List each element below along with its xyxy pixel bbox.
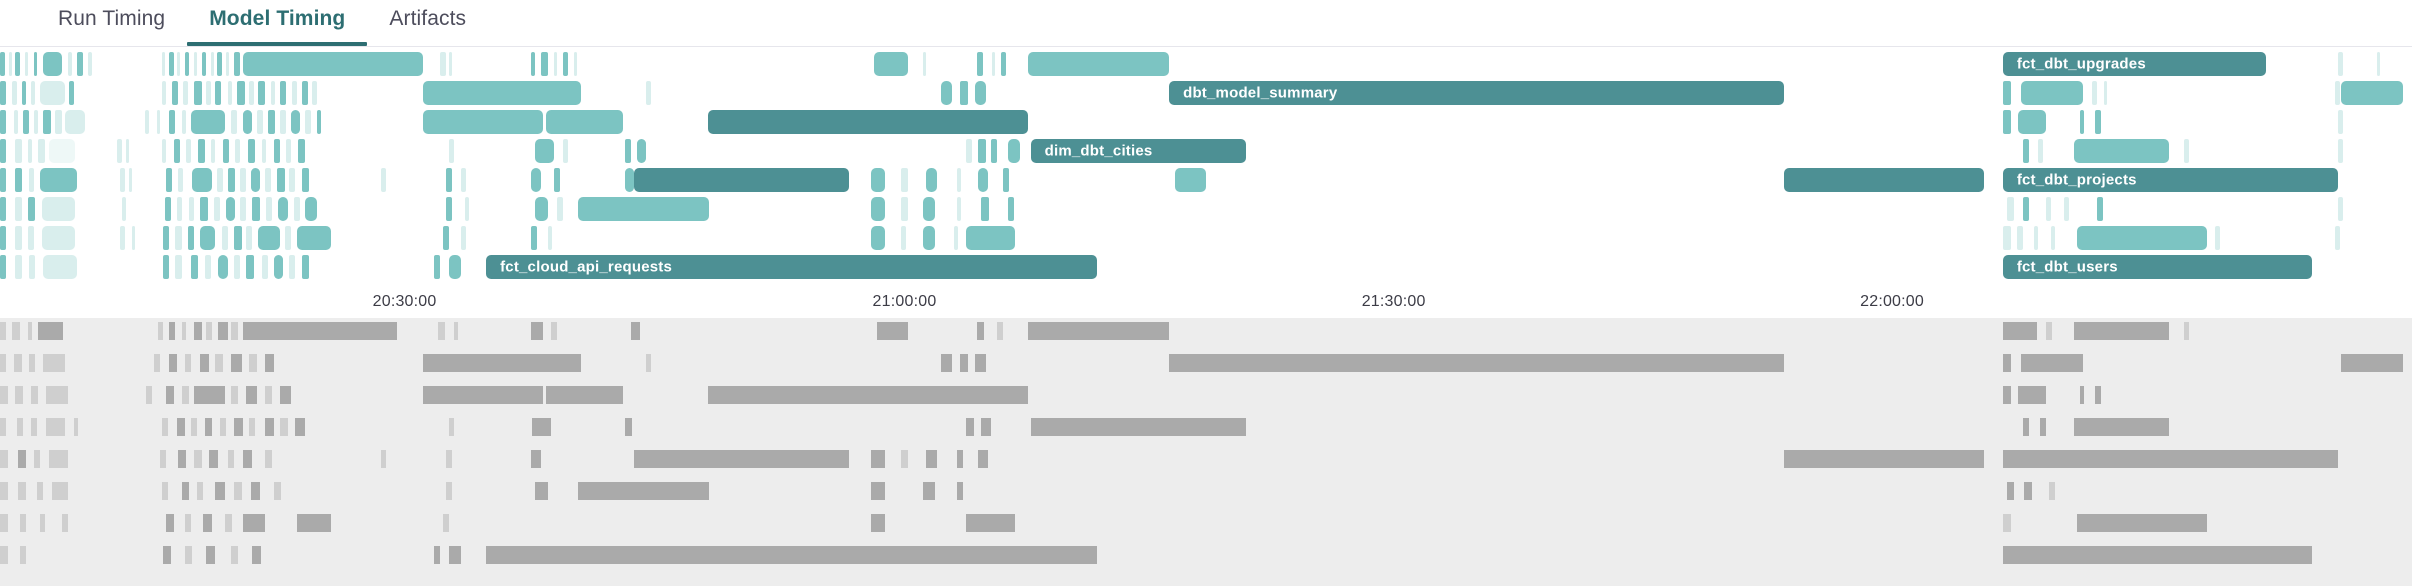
- brush-bar[interactable]: [280, 418, 288, 436]
- gantt-bar[interactable]: [563, 139, 568, 163]
- brush-bar[interactable]: [185, 514, 191, 532]
- brush-bar[interactable]: [0, 546, 8, 564]
- gantt-bar[interactable]: [708, 110, 1028, 134]
- gantt-bar[interactable]: [189, 197, 194, 221]
- brush-bar[interactable]: [231, 386, 239, 404]
- brush-bar[interactable]: [177, 418, 185, 436]
- gantt-bar[interactable]: [0, 139, 6, 163]
- brush-bar[interactable]: [243, 514, 265, 532]
- gantt-bar[interactable]: [1008, 197, 1014, 221]
- gantt-bar[interactable]: [531, 52, 536, 76]
- gantt-bar[interactable]: [15, 139, 21, 163]
- gantt-bar[interactable]: [265, 168, 271, 192]
- gantt-bar[interactable]: [954, 226, 959, 250]
- brush-bar[interactable]: [43, 354, 65, 372]
- gantt-bar[interactable]: [194, 52, 197, 76]
- brush-bar[interactable]: [2049, 482, 2055, 500]
- gantt-bar[interactable]: [183, 81, 188, 105]
- brush-bar[interactable]: [2003, 322, 2037, 340]
- gantt-bar[interactable]: [214, 197, 220, 221]
- brush-bar[interactable]: [438, 322, 444, 340]
- brush-bar[interactable]: [625, 418, 633, 436]
- gantt-bar[interactable]: [243, 52, 423, 76]
- gantt-bar[interactable]: [145, 110, 150, 134]
- gantt-bar[interactable]: [981, 197, 989, 221]
- gantt-bar[interactable]: [2092, 81, 2097, 105]
- gantt-bar[interactable]: [0, 81, 6, 105]
- gantt-bar[interactable]: [49, 139, 75, 163]
- brush-bar[interactable]: [997, 322, 1003, 340]
- gantt-bar[interactable]: [2007, 197, 2013, 221]
- brush-bar[interactable]: [162, 482, 168, 500]
- gantt-bar[interactable]: [2003, 226, 2011, 250]
- gantt-bar[interactable]: [188, 226, 194, 250]
- gantt-bar[interactable]: [871, 226, 885, 250]
- gantt-bar[interactable]: [172, 81, 178, 105]
- gantt-bar[interactable]: [182, 110, 187, 134]
- gantt-bar[interactable]: [43, 52, 61, 76]
- brush-bar[interactable]: [160, 450, 166, 468]
- gantt-bar[interactable]: [0, 226, 6, 250]
- brush-bar[interactable]: [20, 546, 26, 564]
- gantt-bar[interactable]: [2038, 139, 2043, 163]
- gantt-bar[interactable]: [578, 197, 709, 221]
- brush-bar[interactable]: [941, 354, 952, 372]
- gantt-bar[interactable]: [574, 52, 577, 76]
- gantt-bar[interactable]: [77, 52, 83, 76]
- gantt-bar[interactable]: [289, 255, 295, 279]
- gantt-bar[interactable]: [302, 168, 310, 192]
- gantt-bar[interactable]: [218, 255, 227, 279]
- gantt-bar[interactable]: [634, 168, 849, 192]
- brush-bar[interactable]: [449, 546, 461, 564]
- brush-bar[interactable]: [163, 546, 171, 564]
- brush-bar[interactable]: [18, 482, 26, 500]
- brush-bar[interactable]: [220, 418, 226, 436]
- gantt-bar[interactable]: [2335, 226, 2340, 250]
- brush-bar[interactable]: [29, 354, 35, 372]
- brush-bar[interactable]: [191, 418, 197, 436]
- tab-model-timing[interactable]: Model Timing: [187, 0, 367, 44]
- gantt-bar[interactable]: [122, 197, 127, 221]
- gantt-bar[interactable]: [278, 197, 287, 221]
- brush-bar[interactable]: [265, 418, 274, 436]
- brush-bar[interactable]: [532, 418, 550, 436]
- brush-bar[interactable]: [578, 482, 709, 500]
- gantt-bar[interactable]: [2077, 226, 2208, 250]
- gantt-bar[interactable]: [2215, 226, 2220, 250]
- brush-bar[interactable]: [46, 418, 64, 436]
- brush-bar[interactable]: [2003, 514, 2011, 532]
- gantt-bar[interactable]: [302, 81, 308, 105]
- gantt-bar[interactable]: [12, 81, 17, 105]
- brush-bar[interactable]: [280, 386, 291, 404]
- brush-bar[interactable]: [423, 386, 543, 404]
- brush-bar[interactable]: [231, 322, 239, 340]
- brush-bar[interactable]: [2018, 386, 2046, 404]
- gantt-bar[interactable]: [29, 168, 34, 192]
- gantt-bar[interactable]: [2003, 81, 2011, 105]
- gantt-bar[interactable]: [423, 110, 543, 134]
- gantt-bar[interactable]: [23, 110, 29, 134]
- gantt-bar[interactable]: [191, 255, 199, 279]
- gantt-bar[interactable]: [2335, 81, 2340, 105]
- gantt-bar[interactable]: [2338, 110, 2343, 134]
- gantt-bar[interactable]: [120, 168, 125, 192]
- gantt-bar[interactable]: [55, 110, 61, 134]
- gantt-bar[interactable]: [531, 226, 537, 250]
- brush-bar[interactable]: [926, 450, 937, 468]
- gantt-bar-labeled[interactable]: fct_dbt_users: [2003, 255, 2312, 279]
- gantt-bar[interactable]: [1008, 139, 1020, 163]
- gantt-bar[interactable]: [548, 226, 553, 250]
- gantt-bar[interactable]: [531, 168, 542, 192]
- brush-bar[interactable]: [0, 482, 8, 500]
- gantt-bar[interactable]: [2064, 197, 2069, 221]
- gantt-bar[interactable]: [297, 226, 331, 250]
- gantt-bar[interactable]: [2377, 52, 2380, 76]
- brush-bar[interactable]: [203, 514, 212, 532]
- brush-bar[interactable]: [2021, 354, 2083, 372]
- gantt-bar[interactable]: [2080, 110, 2085, 134]
- gantt-bar[interactable]: [554, 52, 557, 76]
- brush-bar[interactable]: [243, 322, 397, 340]
- gantt-bar[interactable]: [186, 139, 191, 163]
- brush-bar[interactable]: [531, 450, 542, 468]
- brush-bar[interactable]: [2023, 418, 2029, 436]
- brush-bar[interactable]: [975, 354, 986, 372]
- gantt-bar[interactable]: [211, 52, 214, 76]
- brush-bar[interactable]: [2080, 386, 2085, 404]
- gantt-bar[interactable]: [285, 226, 291, 250]
- gantt-bar[interactable]: [901, 226, 906, 250]
- gantt-bar[interactable]: [42, 197, 76, 221]
- gantt-bar[interactable]: [28, 197, 36, 221]
- brush-bar[interactable]: [12, 322, 20, 340]
- brush-bar[interactable]: [381, 450, 386, 468]
- gantt-bar[interactable]: [174, 139, 180, 163]
- gantt-bar[interactable]: [226, 197, 235, 221]
- gantt-bar[interactable]: [234, 226, 242, 250]
- gantt-bar[interactable]: [2338, 197, 2343, 221]
- gantt-bar[interactable]: [535, 197, 547, 221]
- brush-bar[interactable]: [15, 386, 23, 404]
- gantt-bar[interactable]: [15, 52, 20, 76]
- brush-bar[interactable]: [2003, 450, 2338, 468]
- gantt-bar[interactable]: [975, 81, 986, 105]
- gantt-bar[interactable]: [2095, 110, 2101, 134]
- gantt-bar[interactable]: [2034, 226, 2039, 250]
- gantt-bar[interactable]: [941, 81, 952, 105]
- gantt-bar[interactable]: [923, 197, 935, 221]
- brush-bar[interactable]: [966, 418, 974, 436]
- gantt-bar[interactable]: [246, 255, 254, 279]
- gantt-bar[interactable]: [251, 168, 260, 192]
- gantt-bar[interactable]: [637, 139, 646, 163]
- brush-bar[interactable]: [265, 386, 273, 404]
- gantt-bar[interactable]: [40, 81, 65, 105]
- timeline-brush-overview[interactable]: [0, 318, 2412, 586]
- gantt-bar[interactable]: [228, 168, 236, 192]
- gantt-bar[interactable]: [15, 168, 21, 192]
- gantt-bar[interactable]: [237, 81, 245, 105]
- gantt-bar[interactable]: [977, 52, 983, 76]
- gantt-bar[interactable]: [166, 168, 172, 192]
- gantt-bar[interactable]: [206, 81, 211, 105]
- brush-bar[interactable]: [0, 386, 8, 404]
- gantt-bar[interactable]: [446, 197, 452, 221]
- gantt-bar[interactable]: [65, 110, 85, 134]
- brush-bar[interactable]: [185, 354, 191, 372]
- gantt-bar[interactable]: [1028, 52, 1170, 76]
- gantt-bar[interactable]: [162, 52, 165, 76]
- gantt-bar[interactable]: [2097, 197, 2103, 221]
- gantt-bar[interactable]: [257, 110, 263, 134]
- brush-bar[interactable]: [2184, 322, 2189, 340]
- brush-bar[interactable]: [634, 450, 849, 468]
- gantt-bar[interactable]: [871, 197, 885, 221]
- brush-bar[interactable]: [158, 322, 163, 340]
- brush-bar[interactable]: [646, 354, 651, 372]
- gantt-bar[interactable]: [957, 168, 962, 192]
- gantt-bar[interactable]: [31, 81, 36, 105]
- brush-bar[interactable]: [631, 322, 640, 340]
- gantt-bar[interactable]: [28, 139, 33, 163]
- gantt-bar[interactable]: [15, 226, 21, 250]
- gantt-bar[interactable]: [177, 197, 182, 221]
- brush-bar[interactable]: [434, 546, 440, 564]
- brush-bar[interactable]: [225, 514, 233, 532]
- brush-bar[interactable]: [957, 482, 963, 500]
- gantt-bar[interactable]: [926, 168, 937, 192]
- gantt-bar[interactable]: [960, 81, 968, 105]
- brush-bar[interactable]: [871, 482, 885, 500]
- brush-bar[interactable]: [966, 514, 1015, 532]
- gantt-bar[interactable]: [381, 168, 386, 192]
- gantt-bar[interactable]: [274, 139, 280, 163]
- brush-bar[interactable]: [1784, 450, 1984, 468]
- brush-bar[interactable]: [2003, 546, 2312, 564]
- brush-bar[interactable]: [446, 450, 452, 468]
- gantt-bar[interactable]: [252, 197, 260, 221]
- gantt-bar[interactable]: [15, 255, 21, 279]
- tab-run-timing[interactable]: Run Timing: [36, 0, 187, 44]
- brush-bar[interactable]: [218, 322, 227, 340]
- brush-bar[interactable]: [2007, 482, 2013, 500]
- brush-bar[interactable]: [200, 354, 209, 372]
- brush-bar[interactable]: [252, 546, 261, 564]
- brush-bar[interactable]: [295, 418, 304, 436]
- gantt-bar[interactable]: [222, 226, 228, 250]
- gantt-bar[interactable]: [1003, 168, 1009, 192]
- gantt-bar[interactable]: [465, 197, 470, 221]
- brush-bar[interactable]: [169, 322, 175, 340]
- brush-bar[interactable]: [0, 354, 6, 372]
- gantt-bar[interactable]: [120, 226, 125, 250]
- gantt-bar[interactable]: [2018, 110, 2046, 134]
- brush-bar[interactable]: [265, 354, 274, 372]
- gantt-bar[interactable]: [129, 168, 132, 192]
- gantt-bar[interactable]: [271, 81, 276, 105]
- brush-bar[interactable]: [2074, 322, 2169, 340]
- gantt-bar[interactable]: [211, 139, 216, 163]
- gantt-bar[interactable]: [1001, 52, 1006, 76]
- brush-bar[interactable]: [454, 322, 459, 340]
- gantt-bar[interactable]: [15, 197, 21, 221]
- brush-bar[interactable]: [446, 482, 452, 500]
- brush-bar[interactable]: [34, 450, 40, 468]
- gantt-bar[interactable]: [280, 110, 286, 134]
- brush-bar[interactable]: [31, 386, 39, 404]
- brush-bar[interactable]: [14, 354, 22, 372]
- gantt-bar[interactable]: [0, 110, 6, 134]
- gantt-bar[interactable]: [2021, 81, 2083, 105]
- brush-bar[interactable]: [265, 450, 273, 468]
- brush-bar[interactable]: [166, 514, 174, 532]
- brush-bar[interactable]: [178, 450, 186, 468]
- gantt-bar[interactable]: [546, 110, 623, 134]
- gantt-bar[interactable]: [305, 110, 311, 134]
- brush-bar[interactable]: [215, 354, 223, 372]
- gantt-bar[interactable]: [461, 168, 466, 192]
- gantt-bar[interactable]: [268, 110, 276, 134]
- brush-bar[interactable]: [2074, 418, 2169, 436]
- brush-bar[interactable]: [194, 450, 202, 468]
- gantt-bar[interactable]: [423, 81, 581, 105]
- brush-bar[interactable]: [74, 418, 79, 436]
- brush-bar[interactable]: [215, 482, 224, 500]
- gantt-bar[interactable]: [200, 197, 208, 221]
- gantt-bar[interactable]: [246, 226, 252, 250]
- brush-bar[interactable]: [154, 354, 160, 372]
- brush-bar[interactable]: [18, 450, 26, 468]
- brush-bar[interactable]: [901, 450, 907, 468]
- gantt-bar[interactable]: [298, 139, 304, 163]
- gantt-bar[interactable]: [966, 139, 972, 163]
- gantt-bar[interactable]: [28, 226, 34, 250]
- gantt-bar[interactable]: [234, 255, 240, 279]
- gantt-bar[interactable]: [202, 52, 207, 76]
- brush-bar[interactable]: [1169, 354, 1784, 372]
- brush-bar[interactable]: [546, 386, 623, 404]
- gantt-bar[interactable]: [157, 110, 160, 134]
- gantt-bar[interactable]: [1784, 168, 1984, 192]
- brush-bar[interactable]: [2341, 354, 2403, 372]
- brush-bar[interactable]: [182, 482, 190, 500]
- brush-bar[interactable]: [194, 322, 202, 340]
- brush-bar[interactable]: [1031, 418, 1246, 436]
- brush-bar[interactable]: [162, 418, 168, 436]
- gantt-bar[interactable]: [449, 52, 452, 76]
- gantt-bar[interactable]: [446, 168, 452, 192]
- brush-bar[interactable]: [871, 514, 885, 532]
- brush-bar[interactable]: [2040, 418, 2046, 436]
- gantt-bar[interactable]: [0, 52, 5, 76]
- gantt-bar[interactable]: [2023, 139, 2029, 163]
- brush-bar[interactable]: [206, 546, 215, 564]
- brush-bar[interactable]: [0, 322, 6, 340]
- gantt-bar[interactable]: [29, 255, 35, 279]
- brush-bar[interactable]: [2024, 482, 2032, 500]
- gantt-bar[interactable]: [226, 52, 229, 76]
- brush-bar[interactable]: [49, 450, 67, 468]
- brush-bar[interactable]: [185, 546, 193, 564]
- gantt-bar[interactable]: [175, 226, 181, 250]
- gantt-bar[interactable]: [1175, 168, 1206, 192]
- gantt-bar[interactable]: [25, 52, 28, 76]
- gantt-bar[interactable]: [625, 168, 634, 192]
- brush-bar[interactable]: [0, 418, 6, 436]
- gantt-bar[interactable]: [38, 139, 44, 163]
- gantt-bar[interactable]: [132, 226, 135, 250]
- gantt-bar[interactable]: [440, 52, 446, 76]
- gantt-bar[interactable]: [2051, 226, 2056, 250]
- gantt-bar-labeled[interactable]: fct_dbt_upgrades: [2003, 52, 2266, 76]
- gantt-bar[interactable]: [40, 168, 77, 192]
- brush-bar[interactable]: [2077, 514, 2208, 532]
- gantt-bar[interactable]: [992, 52, 995, 76]
- gantt-bar[interactable]: [258, 226, 280, 250]
- gantt-bar[interactable]: [2023, 197, 2029, 221]
- gantt-bar[interactable]: [14, 110, 19, 134]
- gantt-bar[interactable]: [957, 197, 962, 221]
- gantt-bar[interactable]: [991, 139, 997, 163]
- gantt-bar[interactable]: [312, 81, 317, 105]
- gantt-bar[interactable]: [302, 255, 310, 279]
- gantt-bar-labeled[interactable]: fct_cloud_api_requests: [486, 255, 1097, 279]
- brush-bar[interactable]: [486, 546, 1097, 564]
- gantt-bar[interactable]: [217, 168, 223, 192]
- gantt-bar-labeled[interactable]: dim_dbt_cities: [1031, 139, 1246, 163]
- gantt-bar[interactable]: [2341, 81, 2403, 105]
- gantt-bar[interactable]: [228, 81, 233, 105]
- brush-bar[interactable]: [423, 354, 581, 372]
- gantt-bar[interactable]: [294, 197, 300, 221]
- brush-bar[interactable]: [209, 450, 218, 468]
- brush-bar[interactable]: [62, 514, 68, 532]
- brush-bar[interactable]: [551, 322, 557, 340]
- brush-bar[interactable]: [877, 322, 908, 340]
- gantt-bar[interactable]: [215, 81, 221, 105]
- brush-bar[interactable]: [228, 450, 234, 468]
- brush-bar[interactable]: [205, 418, 213, 436]
- gantt-bar[interactable]: [235, 139, 240, 163]
- gantt-bar[interactable]: [163, 226, 169, 250]
- brush-bar[interactable]: [206, 322, 212, 340]
- gantt-bar[interactable]: [234, 52, 240, 76]
- brush-bar[interactable]: [249, 354, 257, 372]
- gantt-bar[interactable]: [205, 255, 211, 279]
- brush-bar[interactable]: [871, 450, 885, 468]
- brush-bar[interactable]: [274, 482, 282, 500]
- gantt-bar[interactable]: [541, 52, 547, 76]
- brush-bar[interactable]: [535, 482, 547, 500]
- gantt-bar[interactable]: [2338, 52, 2343, 76]
- brush-bar[interactable]: [17, 418, 23, 436]
- gantt-bar[interactable]: [0, 255, 6, 279]
- gantt-bar-labeled[interactable]: fct_dbt_projects: [2003, 168, 2338, 192]
- gantt-bar[interactable]: [978, 168, 987, 192]
- brush-bar[interactable]: [38, 322, 63, 340]
- gantt-bar[interactable]: [43, 110, 51, 134]
- brush-bar[interactable]: [2003, 386, 2011, 404]
- gantt-bar[interactable]: [178, 168, 183, 192]
- gantt-bar[interactable]: [243, 110, 252, 134]
- brush-bar[interactable]: [231, 546, 239, 564]
- gantt-bar[interactable]: [162, 139, 167, 163]
- gantt-bar[interactable]: [289, 168, 295, 192]
- brush-bar[interactable]: [249, 418, 255, 436]
